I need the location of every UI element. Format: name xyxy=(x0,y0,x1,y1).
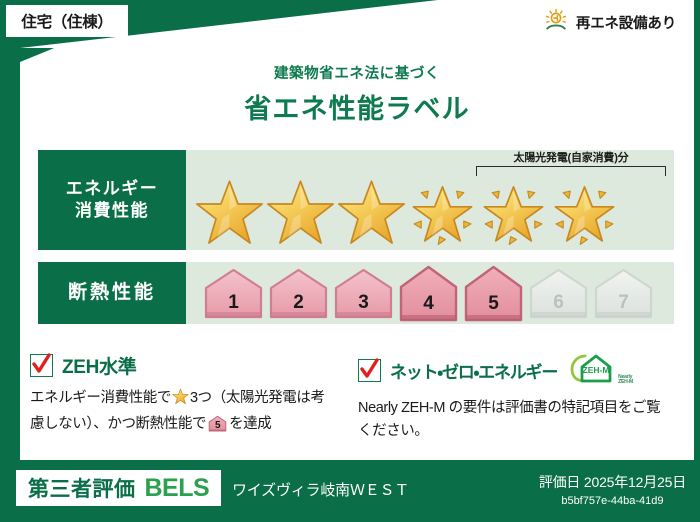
energy-star-6-solar xyxy=(549,177,620,248)
zeh-m-sublabel: Nearly ZEH-M xyxy=(618,375,633,390)
renewable-equipment-badge: 再エネ設備あり xyxy=(535,5,688,39)
energy-star-4-solar xyxy=(407,177,478,248)
insulation-level-7: 7 xyxy=(592,266,655,320)
energy-performance-label: 住宅（住棟） 再エネ設備あり xyxy=(0,0,700,522)
evaluation-info: 評価日 2025年12月25日 b5bf757e-44ba-41d9 xyxy=(539,472,686,507)
zeh-desc-part3: を達成 xyxy=(229,416,271,432)
sun-renewable-icon xyxy=(543,8,569,37)
energy-star-2 xyxy=(265,177,336,248)
bels-plate: 第三者評価 BELS xyxy=(16,470,221,506)
inline-house-badge: 5 xyxy=(208,415,227,440)
insulation-performance-body: 1 2 3 xyxy=(186,262,674,324)
zeh-m-house-icon: ZEH-M xyxy=(570,352,616,389)
energy-performance-label: エネルギー 消費性能 xyxy=(38,150,186,250)
insulation-performance-label: 断熱性能 xyxy=(38,262,186,324)
net-zero-energy-block: ネット・ゼロ・エネルギー ZEH-M Nearly ZEH-M Nearly Z… xyxy=(358,352,670,443)
inline-star-icon xyxy=(172,388,189,413)
insulation-level-scale: 1 2 3 xyxy=(202,262,670,324)
zeh-m-mark-text: ZEH-M xyxy=(583,365,610,375)
energy-performance-row: エネルギー 消費性能 太陽光発電(自家消費)分 xyxy=(38,150,674,250)
zeh-standard-description: エネルギー消費性能で 3つ（太陽光発電は考慮しない）、かつ断熱性能で 5を達成 xyxy=(30,387,330,440)
insulation-level-2: 2 xyxy=(267,266,330,320)
energy-star-rating xyxy=(194,176,670,248)
zeh-standard-block: ZEH水準 エネルギー消費性能で 3つ（太陽光発電は考慮しない）、かつ断熱性能で… xyxy=(30,352,330,440)
property-name: ワイズヴィラ岐南ＷＥＳＴ xyxy=(232,479,409,500)
energy-star-3 xyxy=(336,177,407,248)
zeh-m-mark: ZEH-M Nearly ZEH-M xyxy=(570,352,633,389)
bels-logo-text: BELS xyxy=(145,474,210,503)
label-footer: 第三者評価 BELS ワイズヴィラ岐南ＷＥＳＴ 評価日 2025年12月25日 … xyxy=(0,460,700,522)
energy-star-5-solar xyxy=(478,177,549,248)
insulation-level-4: 4 xyxy=(397,263,460,323)
third-party-eval-label: 第三者評価 xyxy=(28,473,136,503)
zeh-standard-header: ZEH水準 xyxy=(30,352,330,379)
renewable-badge-label: 再エネ設備あり xyxy=(576,12,676,33)
insulation-level-5: 5 xyxy=(462,263,525,323)
solar-bracket xyxy=(476,166,666,176)
insulation-performance-row: 断熱性能 xyxy=(38,262,674,324)
inline-house-number: 5 xyxy=(208,418,227,434)
energy-performance-body: 太陽光発電(自家消費)分 xyxy=(186,150,674,250)
net-zero-energy-title: ネット・ゼロ・エネルギー xyxy=(390,358,557,383)
net-zero-energy-checkbox[interactable] xyxy=(358,359,381,382)
zeh-desc-part1: エネルギー消費性能で xyxy=(30,390,171,406)
insulation-level-6: 6 xyxy=(527,266,590,320)
solar-annotation: 太陽光発電(自家消費)分 xyxy=(476,152,666,176)
insulation-level-3: 3 xyxy=(332,266,395,320)
label-main-title: 省エネ性能ラベル xyxy=(20,87,694,126)
title-block: 建築物省エネ法に基づく 省エネ性能ラベル xyxy=(20,62,694,126)
solar-annotation-label: 太陽光発電(自家消費)分 xyxy=(476,152,666,164)
net-zero-energy-description: Nearly ZEH-M の要件は評価書の特記項目をご覧ください。 xyxy=(358,397,670,443)
evaluation-id: b5bf757e-44ba-41d9 xyxy=(539,495,686,507)
label-subtitle: 建築物省エネ法に基づく xyxy=(20,62,694,83)
energy-star-1 xyxy=(194,177,265,248)
zeh-standard-title: ZEH水準 xyxy=(62,352,137,379)
evaluation-date: 評価日 2025年12月25日 xyxy=(539,472,686,492)
net-zero-energy-header: ネット・ゼロ・エネルギー ZEH-M Nearly ZEH-M xyxy=(358,352,670,389)
building-type-tag: 住宅（住棟） xyxy=(6,5,128,37)
insulation-level-1: 1 xyxy=(202,266,265,320)
zeh-standard-checkbox[interactable] xyxy=(30,354,53,377)
